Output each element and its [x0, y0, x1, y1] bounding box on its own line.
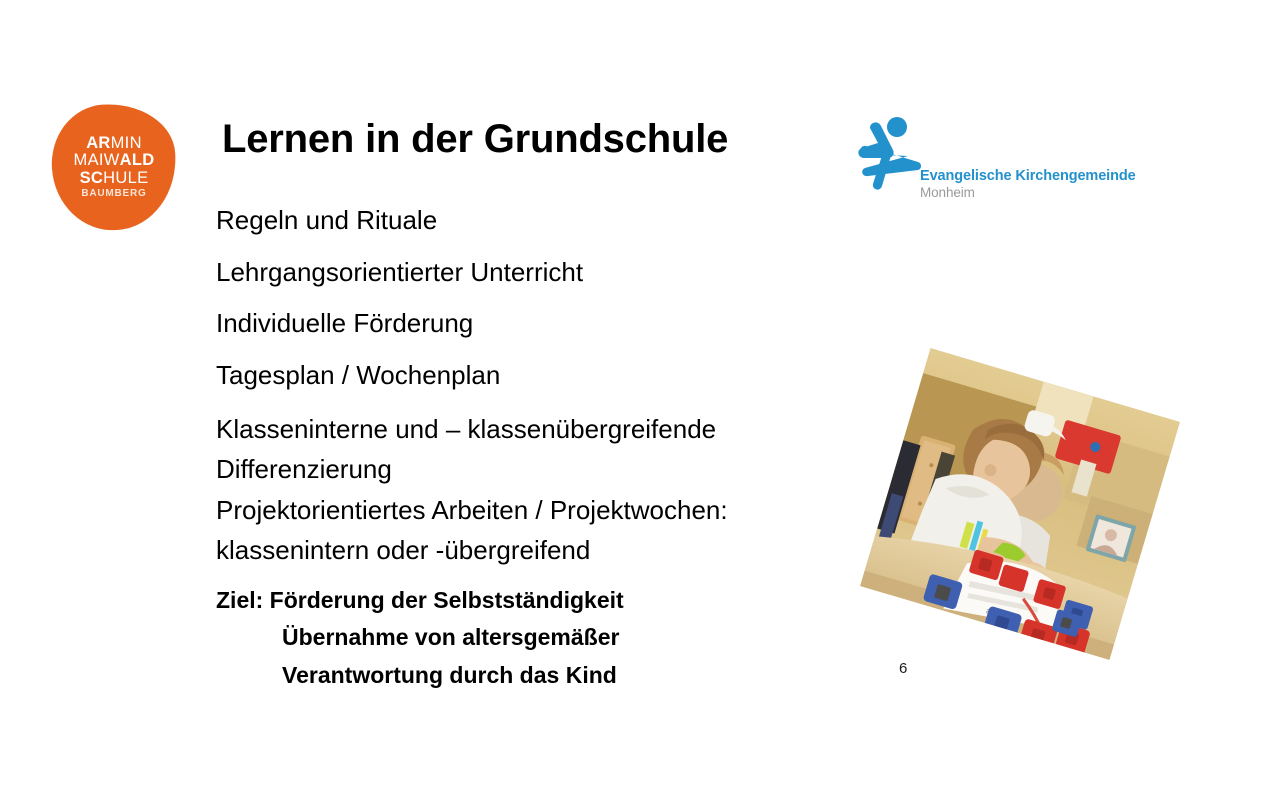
- presentation-slide: ARMIN MAIWALD SCHULE BAUMBERG Lernen in …: [0, 0, 1280, 794]
- logo-maiwald-light: MAIW: [74, 151, 120, 169]
- logo-line-baumberg: BAUMBERG: [81, 189, 146, 199]
- photo-illustration: ab: [860, 348, 1180, 660]
- church-person-cross-icon: [852, 116, 924, 192]
- logo-maiwald-bold: ALD: [120, 151, 155, 169]
- goal-line-1: Ziel: Förderung der Selbstständigkeit: [216, 582, 624, 619]
- body-line-4: Tagesplan / Wochenplan: [216, 361, 876, 390]
- page-title: Lernen in der Grundschule: [222, 117, 728, 162]
- body-block-b-line-2: klassenintern oder -übergreifend: [216, 531, 876, 571]
- slide-body-text: Regeln und Rituale Lehrgangsorientierter…: [216, 206, 876, 571]
- goal-line-3: Verantwortung durch das Kind: [216, 657, 624, 694]
- logo-line-armin: ARMIN: [86, 135, 142, 152]
- logo-armin-light: MIN: [111, 134, 142, 152]
- evangelische-kirchengemeinde-logo: Evangelische Kirchengemeinde Monheim: [846, 112, 1130, 212]
- logo-text-group: ARMIN MAIWALD SCHULE BAUMBERG: [52, 104, 176, 230]
- church-location: Monheim: [920, 185, 1136, 200]
- logo-schule-bold: SC: [80, 169, 104, 187]
- body-block-a-line-2: Differenzierung: [216, 450, 876, 490]
- photo-inner: ab: [860, 348, 1180, 660]
- body-block-projektarbeit: Projektorientiertes Arbeiten / Projektwo…: [216, 491, 876, 570]
- page-number: 6: [899, 660, 907, 677]
- logo-line-schule: SCHULE: [80, 170, 149, 187]
- church-logo-text: Evangelische Kirchengemeinde Monheim: [920, 168, 1136, 200]
- armin-maiwald-schule-logo: ARMIN MAIWALD SCHULE BAUMBERG: [52, 104, 176, 230]
- goal-line-2: Übernahme von altersgemäßer: [216, 619, 624, 656]
- body-line-2: Lehrgangsorientierter Unterricht: [216, 258, 876, 287]
- logo-line-maiwald: MAIWALD: [74, 152, 155, 169]
- goal-text-block: Ziel: Förderung der Selbstständigkeit Üb…: [216, 582, 624, 694]
- logo-schule-light: HULE: [103, 169, 148, 187]
- body-line-1: Regeln und Rituale: [216, 206, 876, 235]
- church-name: Evangelische Kirchengemeinde: [920, 168, 1136, 184]
- body-line-3: Individuelle Förderung: [216, 309, 876, 338]
- logo-armin-bold: AR: [86, 134, 110, 152]
- body-block-a-line-1: Klasseninterne und – klassenübergreifend…: [216, 410, 876, 450]
- body-block-b-line-1: Projektorientiertes Arbeiten / Projektwo…: [216, 491, 876, 531]
- classroom-children-photo: ab: [860, 348, 1180, 660]
- body-block-differenzierung: Klasseninterne und – klassenübergreifend…: [216, 410, 876, 489]
